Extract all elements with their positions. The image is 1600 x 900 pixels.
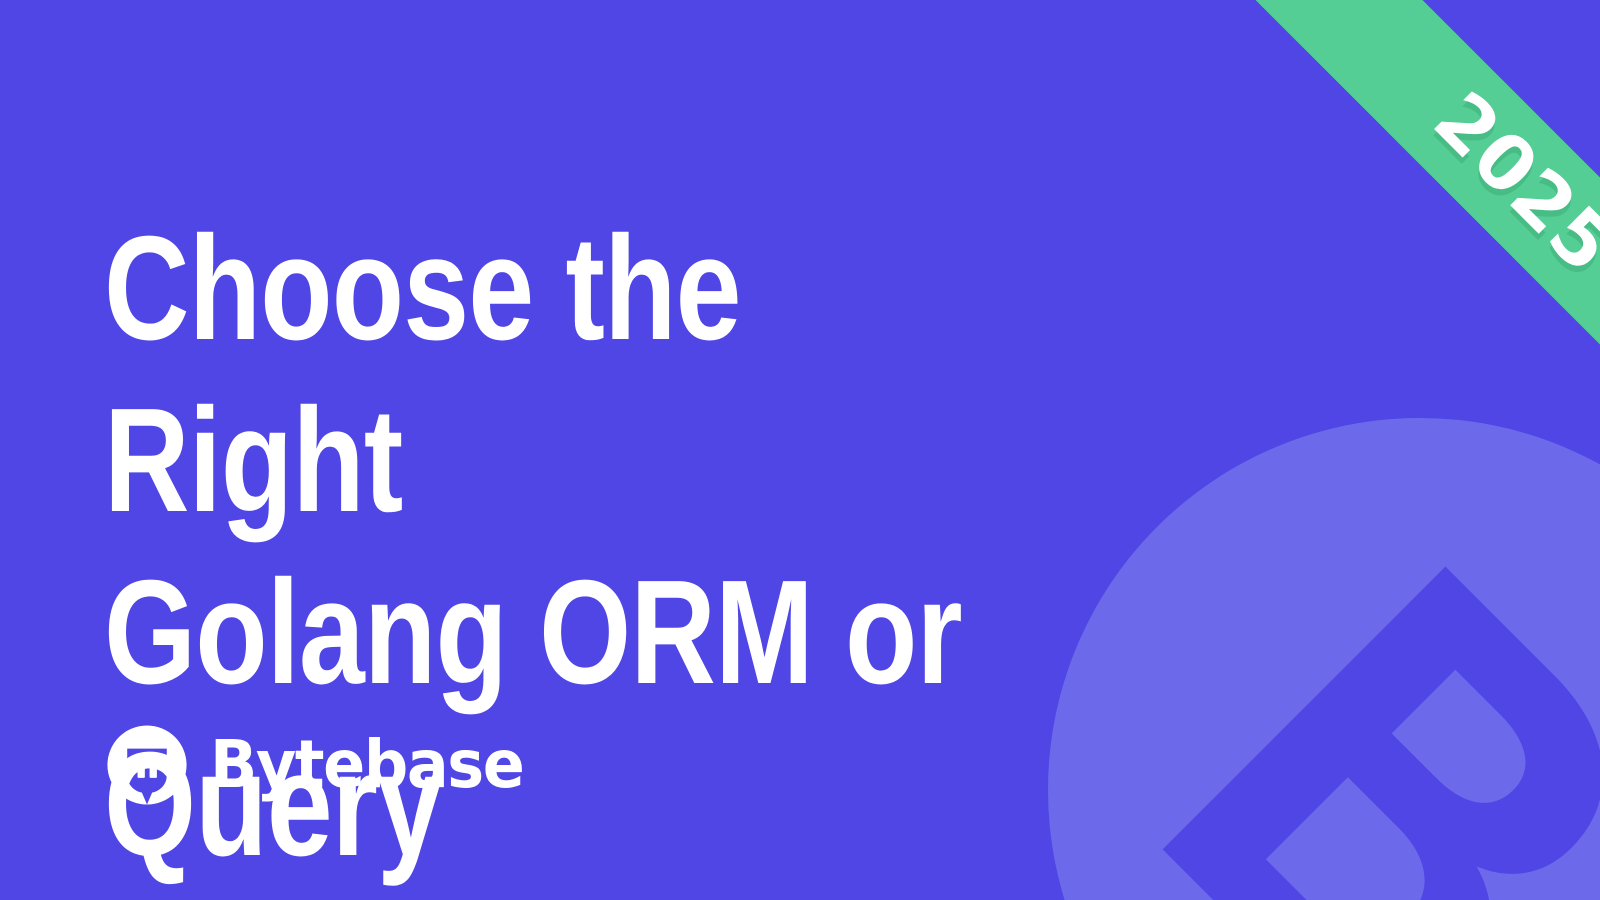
bytebase-logo-icon [104,722,190,808]
social-card: 2025 Choose the Right Golang ORM or Quer… [0,0,1600,900]
brand-name: Bytebase [210,732,523,798]
brand-lockup[interactable]: Bytebase [104,722,543,808]
bytebase-watermark-icon [1048,418,1600,900]
year-ribbon: 2025 [1237,0,1600,364]
